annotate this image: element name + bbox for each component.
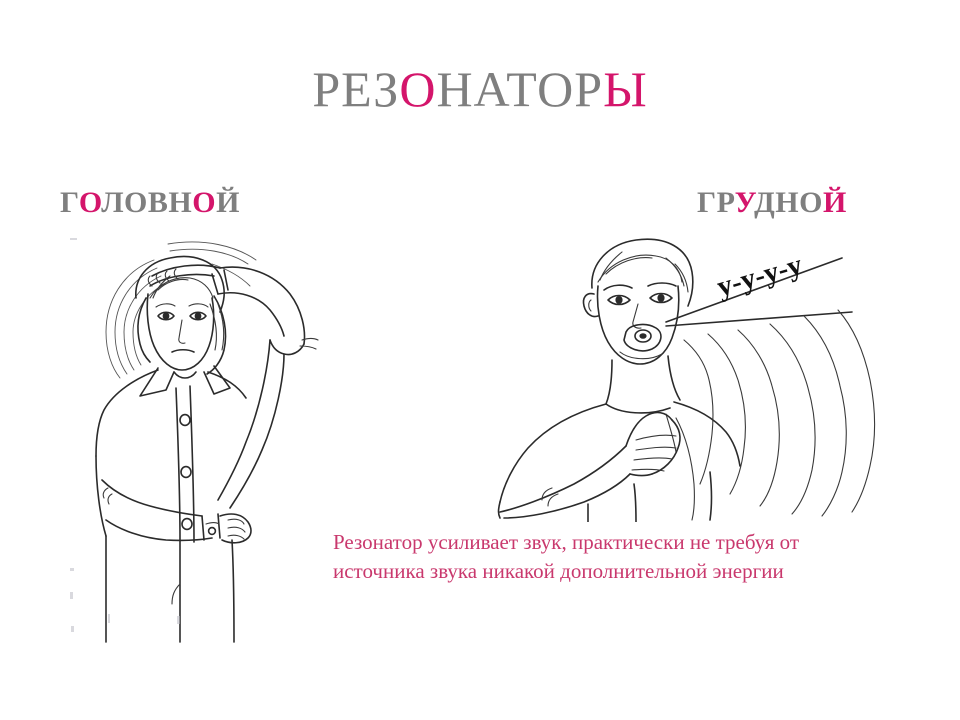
title-segment-2: О [399, 61, 436, 117]
scan-artifact [70, 238, 77, 240]
scan-artifact [108, 614, 110, 623]
title-segment-1: РЕЗ [312, 61, 399, 117]
heading-head-resonator: ГОЛОВНОЙ [60, 186, 240, 220]
heading-right-segment-1: ГР [697, 186, 735, 219]
slide-canvas: РЕЗОНАТОРЫ ГОЛОВНОЙ ГРУДНОЙ [0, 0, 960, 720]
scan-artifact [71, 626, 74, 632]
heading-left-segment-3: ЛОВН [101, 186, 192, 219]
heading-left-segment-4: О [192, 186, 216, 219]
heading-left-segment-1: Г [60, 186, 79, 219]
scan-artifact [70, 568, 74, 571]
heading-chest-resonator: ГРУДНОЙ [697, 186, 847, 220]
heading-right-segment-2: У [735, 186, 754, 219]
heading-left-segment-2: О [79, 186, 101, 219]
chest-resonator-illustration [470, 222, 890, 522]
page-title: РЕЗОНАТОРЫ [0, 60, 960, 118]
scan-artifact [177, 616, 180, 624]
heading-right-segment-4: Й [823, 186, 847, 219]
body-paragraph: Резонатор усиливает звук, практически не… [333, 528, 878, 586]
title-segment-4: Ы [603, 61, 648, 117]
title-segment-3: НАТОР [436, 61, 603, 117]
heading-right-segment-3: ДНО [754, 186, 823, 219]
scan-artifact [70, 592, 73, 599]
heading-left-segment-5: Й [216, 186, 240, 219]
head-resonator-illustration [62, 228, 342, 648]
